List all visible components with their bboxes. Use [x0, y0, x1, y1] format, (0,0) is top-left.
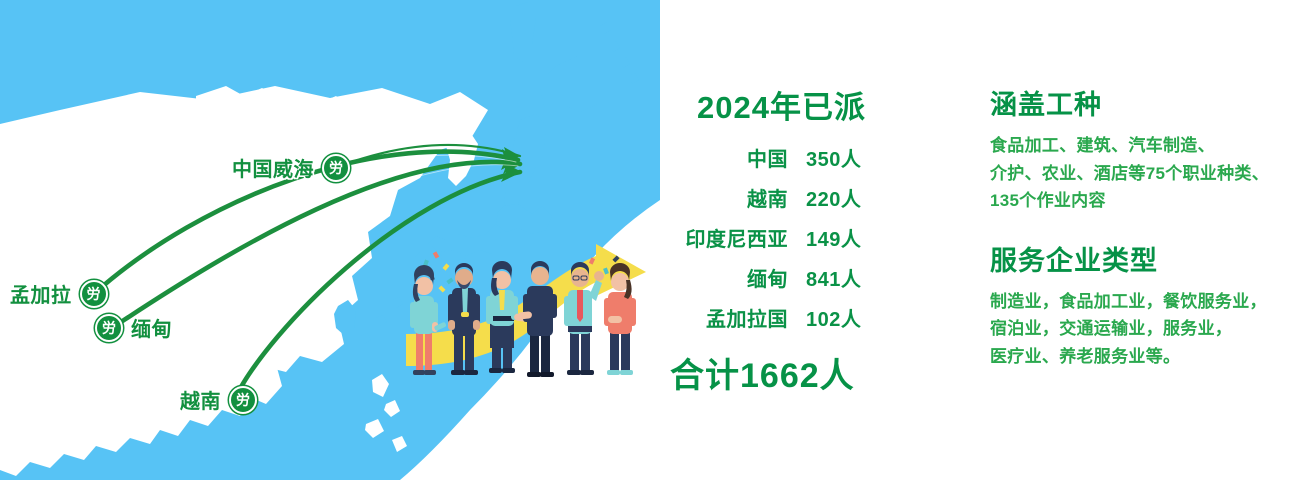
map-marker-weihai-label: 中国威海 — [232, 153, 314, 182]
stats-country-label: 印度尼西亚 — [660, 223, 788, 252]
info-column: 涵盖工种 食品加工、建筑、汽车制造、 介护、农业、酒店等75个职业种类、 135… — [990, 92, 1290, 370]
stats-country-value: 149人 — [788, 223, 901, 252]
info-block-body: 制造业，食品加工业，餐饮服务业， 宿泊业，交通运输业，服务业， 医疗业、养老服务… — [990, 288, 1290, 371]
info-line: 135个作业内容 — [990, 187, 1290, 215]
stats-row: 印度尼西亚 149人 — [660, 223, 960, 252]
stats-title: 2024年已派 — [660, 92, 960, 123]
stats-row: 中国 350人 — [660, 143, 960, 172]
stats-country-value: 841人 — [788, 263, 901, 292]
stats-country-label: 孟加拉国 — [660, 303, 788, 332]
info-line: 制造业，食品加工业，餐饮服务业， — [990, 288, 1290, 316]
info-block-title: 涵盖工种 — [990, 92, 1290, 119]
info-line: 食品加工、建筑、汽车制造、 — [990, 132, 1290, 160]
map-marker-myanmar-label: 缅甸 — [131, 313, 172, 342]
info-block-job-types: 涵盖工种 食品加工、建筑、汽车制造、 介护、农业、酒店等75个职业种类、 135… — [990, 92, 1290, 215]
info-line: 医疗业、养老服务业等。 — [990, 343, 1290, 371]
map-marker-vietnam[interactable]: 越南 労 — [180, 385, 257, 414]
info-block-enterprise-types: 服务企业类型 制造业，食品加工业，餐饮服务业， 宿泊业，交通运输业，服务业， 医… — [990, 248, 1290, 371]
info-block-title: 服务企业类型 — [990, 248, 1290, 275]
stats-country-value: 220人 — [788, 183, 901, 212]
map-marker-bangladesh-label: 孟加拉 — [10, 279, 72, 308]
stats-row: 缅甸 841人 — [660, 263, 960, 292]
stats-country-label: 越南 — [660, 183, 788, 212]
labor-badge-icon: 労 — [80, 280, 108, 308]
stats-country-value: 350人 — [788, 143, 901, 172]
stats-country-label: 中国 — [660, 143, 788, 172]
map-marker-weihai[interactable]: 中国威海 労 — [232, 153, 350, 182]
map-marker-vietnam-label: 越南 — [180, 385, 221, 414]
info-line: 介护、农业、酒店等75个职业种类、 — [990, 160, 1290, 188]
person-4 — [518, 261, 557, 377]
stats-country-label: 缅甸 — [660, 263, 788, 292]
stats-row: 越南 220人 — [660, 183, 960, 212]
map-marker-myanmar[interactable]: 労 缅甸 — [95, 313, 172, 342]
labor-badge-icon: 労 — [229, 386, 257, 414]
infographic-root: 中国威海 労 孟加拉 労 労 缅甸 越南 労 — [0, 0, 1296, 480]
map-marker-bangladesh[interactable]: 孟加拉 労 — [10, 279, 108, 308]
illustration-graphic — [400, 238, 652, 386]
labor-badge-icon: 労 — [95, 314, 123, 342]
stats-country-value: 102人 — [788, 303, 901, 332]
info-line: 宿泊业，交通运输业，服务业， — [990, 315, 1290, 343]
business-people-illustration — [400, 238, 652, 386]
dispatch-stats-column: 2024年已派 中国 350人 越南 220人 印度尼西亚 149人 缅甸 84… — [660, 92, 960, 397]
labor-badge-icon: 労 — [322, 154, 350, 182]
stats-table: 中国 350人 越南 220人 印度尼西亚 149人 缅甸 841人 孟加拉国 … — [660, 143, 960, 332]
stats-total: 合计1662人 — [660, 348, 960, 397]
info-block-body: 食品加工、建筑、汽车制造、 介护、农业、酒店等75个职业种类、 135个作业内容 — [990, 132, 1290, 215]
stats-row: 孟加拉国 102人 — [660, 303, 960, 332]
